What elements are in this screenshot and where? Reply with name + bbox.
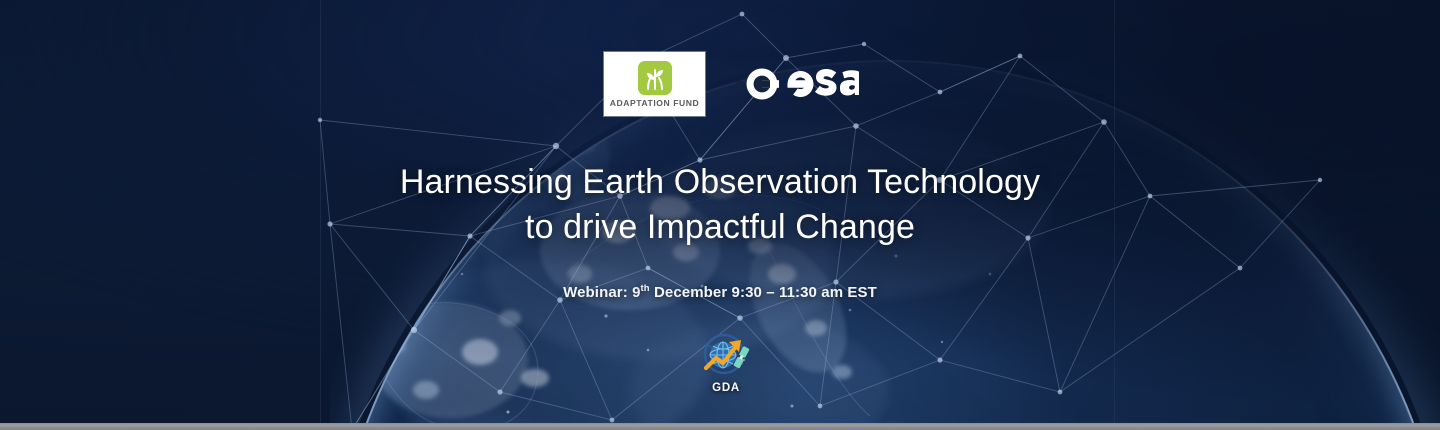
webinar-date-ordinal: th — [641, 283, 650, 294]
adaptation-fund-wordmark: ADAPTATION FUND — [610, 98, 700, 108]
adaptation-fund-mark-icon — [638, 61, 672, 95]
webinar-banner: ADAPTATION FUND — [0, 0, 1440, 430]
webinar-datetime: Webinar: 9th December 9:30 – 11:30 am ES… — [0, 283, 1440, 301]
page-title: Harnessing Earth Observation Technology … — [0, 160, 1440, 250]
gda-badge: GDA — [690, 330, 762, 394]
logo-row: ADAPTATION FUND — [604, 52, 859, 116]
bottom-chrome-bar — [0, 423, 1440, 430]
gda-label: GDA — [690, 382, 762, 394]
title-line-2: to drive Impactful Change — [0, 205, 1440, 250]
title-line-1: Harnessing Earth Observation Technology — [400, 163, 1040, 201]
adaptation-fund-logo: ADAPTATION FUND — [604, 52, 705, 116]
globe-growth-arrow-satellite-icon — [690, 330, 762, 380]
webinar-datetime-suffix: December 9:30 – 11:30 am EST — [650, 284, 877, 301]
esa-logo — [727, 59, 859, 109]
webinar-datetime-prefix: Webinar: 9 — [563, 284, 640, 301]
